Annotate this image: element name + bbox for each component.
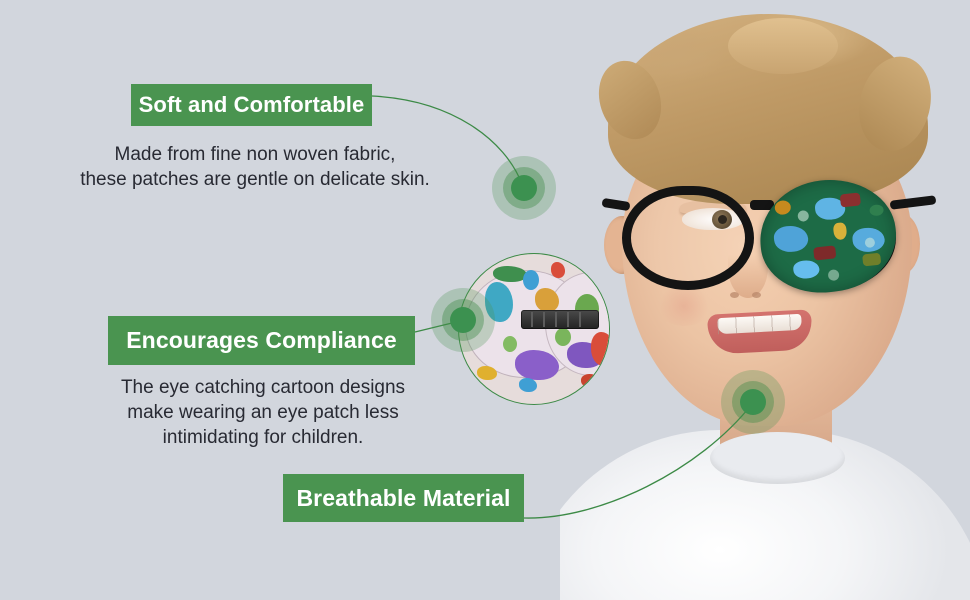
- feature-description-soft-and-comfortable: Made from fine non woven fabric, these p…: [40, 142, 470, 192]
- hair-strand: [728, 18, 838, 74]
- dino-motif: [477, 366, 497, 380]
- feature-banner-breathable-material[interactable]: Breathable Material: [283, 474, 524, 522]
- dino-motif: [493, 266, 527, 282]
- glasses-temple: [890, 195, 937, 210]
- infographic-canvas: Soft and Comfortable Made from fine non …: [0, 0, 970, 600]
- dino-motif: [551, 262, 565, 278]
- dino-motif: [591, 332, 610, 366]
- feature-banner-encourages-compliance[interactable]: Encourages Compliance: [108, 316, 415, 365]
- feature-banner-soft-and-comfortable[interactable]: Soft and Comfortable: [131, 84, 372, 126]
- teeth-gaps: [717, 314, 802, 334]
- egg-motif: [503, 336, 517, 352]
- glasses-temple: [601, 198, 630, 211]
- dino-motif: [535, 288, 559, 312]
- egg-motif: [555, 328, 571, 346]
- egg-motif: [523, 270, 539, 290]
- dino-motif: [519, 378, 537, 392]
- marker-core: [511, 175, 537, 201]
- dino-motif: [581, 374, 601, 388]
- shirt-collar: [710, 432, 845, 484]
- marker-core: [450, 307, 476, 333]
- left-lens: [622, 186, 754, 290]
- adjustable-strap: [521, 310, 599, 329]
- feature-description-encourages-compliance: The eye catching cartoon designs make we…: [78, 375, 448, 450]
- product-photo: [560, 0, 970, 600]
- marker-core: [740, 389, 766, 415]
